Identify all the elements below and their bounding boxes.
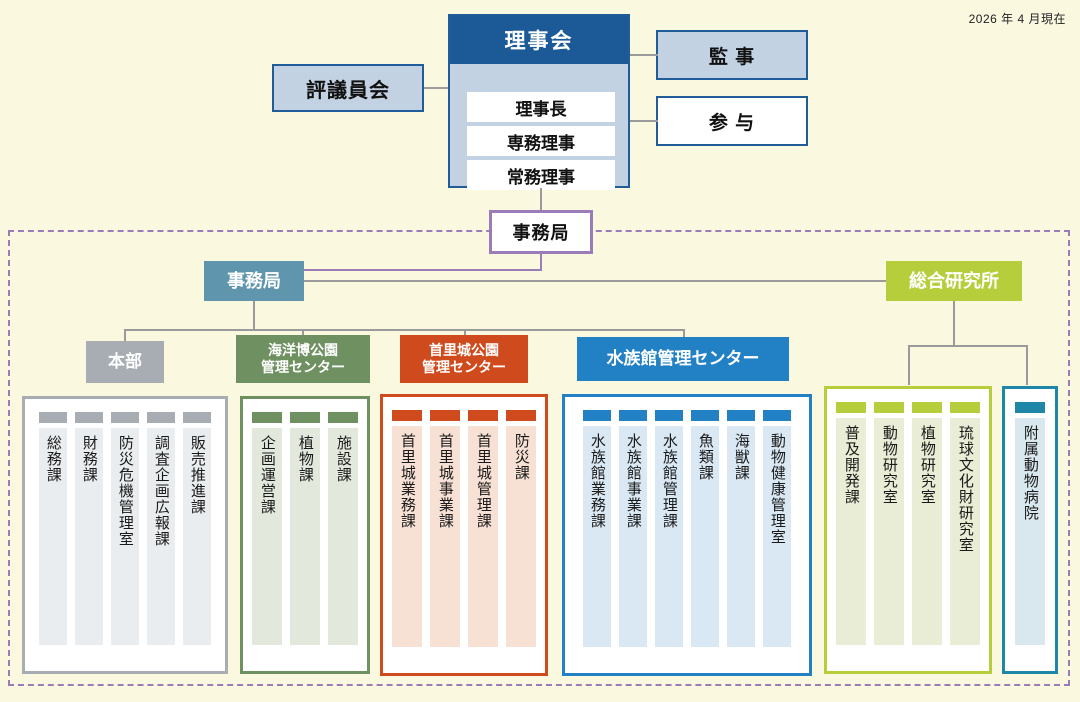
section-column[interactable]: 水族館事業課 xyxy=(619,410,647,647)
section-group-hospital: 附属動物病院 xyxy=(1002,386,1058,674)
section-body: 企画運営課 xyxy=(252,428,282,645)
date-stamp: 2026 年 4 月現在 xyxy=(969,10,1066,27)
division-header-honbu[interactable]: 本部 xyxy=(86,341,164,383)
section-group-honbu: 総務課財務課防災危機管理室調査企画広報課販売推進課 xyxy=(22,396,228,674)
section-color-bar xyxy=(328,412,358,423)
section-color-bar xyxy=(147,412,175,423)
section-column[interactable]: 附属動物病院 xyxy=(1015,402,1045,645)
section-column[interactable]: 首里城管理課 xyxy=(468,410,498,647)
section-column[interactable]: 施設課 xyxy=(328,412,358,645)
connector-research-group1 xyxy=(908,345,910,385)
section-body: 琉球文化財研究室 xyxy=(950,418,980,645)
section-column[interactable]: 防災課 xyxy=(506,410,536,647)
division-label: 本部 xyxy=(108,351,142,372)
section-body: 水族館事業課 xyxy=(619,426,647,647)
board-title: 理事会 xyxy=(450,16,628,64)
section-label: 普及開発課 xyxy=(843,425,859,645)
section-color-bar xyxy=(506,410,536,421)
section-body: 首里城管理課 xyxy=(468,426,498,647)
section-body: 海獣課 xyxy=(727,426,755,647)
board-member-row: 理事長 xyxy=(467,92,615,122)
section-column[interactable]: 水族館管理課 xyxy=(655,410,683,647)
secretariat-division-box[interactable]: 事務局 xyxy=(204,261,304,301)
advisor-box[interactable]: 参 与 xyxy=(656,96,808,146)
section-label: 調査企画広報課 xyxy=(153,435,169,645)
section-column[interactable]: 財務課 xyxy=(75,412,103,645)
section-column[interactable]: 動物健康管理室 xyxy=(763,410,791,647)
section-body: 動物研究室 xyxy=(874,418,904,645)
section-label: 動物研究室 xyxy=(881,425,897,645)
division-header-kaiyohaku[interactable]: 海洋博公園 管理センター xyxy=(236,335,370,383)
section-columns: 普及開発課動物研究室植物研究室琉球文化財研究室 xyxy=(827,389,989,671)
section-column[interactable]: 琉球文化財研究室 xyxy=(950,402,980,645)
section-label: 動物健康管理室 xyxy=(769,433,785,647)
org-chart-canvas: 2026 年 4 月現在 評議員会 理事会 理事長 専務理事 常務理事 監 事 … xyxy=(0,0,1080,702)
section-body: 施設課 xyxy=(328,428,358,645)
section-color-bar xyxy=(912,402,942,413)
section-columns: 首里城業務課首里城事業課首里城管理課防災課 xyxy=(383,397,545,673)
connector-auditor xyxy=(630,54,658,56)
division-label: 水族館管理センター xyxy=(607,348,760,369)
section-body: 植物研究室 xyxy=(912,418,942,645)
section-body: 水族館管理課 xyxy=(655,426,683,647)
section-color-bar xyxy=(111,412,139,423)
section-label: 総務課 xyxy=(45,435,61,645)
section-label: 首里城管理課 xyxy=(475,433,491,647)
section-column[interactable]: 企画運営課 xyxy=(252,412,282,645)
connector-research-down xyxy=(953,301,955,345)
section-label: 水族館事業課 xyxy=(625,433,641,647)
section-color-bar xyxy=(75,412,103,423)
research-institute-box[interactable]: 総合研究所 xyxy=(886,261,1022,301)
section-body: 販売推進課 xyxy=(183,428,211,645)
section-color-bar xyxy=(691,410,719,421)
section-columns: 附属動物病院 xyxy=(1005,389,1055,671)
section-label: 販売推進課 xyxy=(189,435,205,645)
connector-divisions-bus xyxy=(124,329,684,331)
section-color-bar xyxy=(655,410,683,421)
section-color-bar xyxy=(619,410,647,421)
councillors-box[interactable]: 評議員会 xyxy=(272,64,424,112)
section-color-bar xyxy=(874,402,904,413)
section-column[interactable]: 水族館業務課 xyxy=(583,410,611,647)
section-label: 防災危機管理室 xyxy=(117,435,133,645)
section-body: 首里城業務課 xyxy=(392,426,422,647)
division-header-shurijo[interactable]: 首里城公園 管理センター xyxy=(400,335,528,383)
section-color-bar xyxy=(183,412,211,423)
section-label: 琉球文化財研究室 xyxy=(957,425,973,645)
section-color-bar xyxy=(290,412,320,423)
section-label: 企画運営課 xyxy=(259,435,275,645)
connector-divisions-down xyxy=(253,301,255,329)
section-label: 首里城業務課 xyxy=(399,433,415,647)
section-color-bar xyxy=(1015,402,1045,413)
division-label-line2: 管理センター xyxy=(261,359,345,377)
section-columns: 水族館業務課水族館事業課水族館管理課魚類課海獣課動物健康管理室 xyxy=(565,397,809,673)
section-column[interactable]: 販売推進課 xyxy=(183,412,211,645)
section-label: 魚類課 xyxy=(697,433,713,647)
connector-board-to-secretariat xyxy=(540,188,542,212)
section-label: 附属動物病院 xyxy=(1022,425,1038,645)
section-color-bar xyxy=(252,412,282,423)
connector-research-group2 xyxy=(1026,345,1028,385)
section-group-research: 普及開発課動物研究室植物研究室琉球文化財研究室 xyxy=(824,386,992,674)
section-color-bar xyxy=(836,402,866,413)
section-body: 総務課 xyxy=(39,428,67,645)
section-color-bar xyxy=(763,410,791,421)
connector-councillors xyxy=(424,87,450,89)
section-group-kaiyohaku: 企画運営課植物課施設課 xyxy=(240,396,370,674)
section-label: 水族館管理課 xyxy=(661,433,677,647)
section-body: 防災課 xyxy=(506,426,536,647)
section-column[interactable]: 動物研究室 xyxy=(874,402,904,645)
section-body: 植物課 xyxy=(290,428,320,645)
section-columns: 企画運営課植物課施設課 xyxy=(243,399,367,671)
section-label: 植物課 xyxy=(297,435,313,645)
division-label-line1: 海洋博公園 xyxy=(268,342,338,360)
section-body: 財務課 xyxy=(75,428,103,645)
section-column[interactable]: 総務課 xyxy=(39,412,67,645)
section-body: 魚類課 xyxy=(691,426,719,647)
section-body: 普及開発課 xyxy=(836,418,866,645)
section-color-bar xyxy=(727,410,755,421)
section-columns: 総務課財務課防災危機管理室調査企画広報課販売推進課 xyxy=(25,399,225,671)
auditor-box[interactable]: 監 事 xyxy=(656,30,808,80)
section-label: 防災課 xyxy=(513,433,529,647)
board-member-row: 専務理事 xyxy=(467,126,615,156)
division-label-line2: 管理センター xyxy=(422,359,506,377)
division-header-suizokukan[interactable]: 水族館管理センター xyxy=(577,337,789,381)
section-color-bar xyxy=(583,410,611,421)
section-body: 附属動物病院 xyxy=(1015,418,1045,645)
section-label: 施設課 xyxy=(335,435,351,645)
section-color-bar xyxy=(468,410,498,421)
section-body: 動物健康管理室 xyxy=(763,426,791,647)
board-of-directors-box[interactable]: 理事会 理事長 専務理事 常務理事 xyxy=(448,14,630,188)
section-color-bar xyxy=(950,402,980,413)
board-member-row: 常務理事 xyxy=(467,160,615,190)
section-body: 防災危機管理室 xyxy=(111,428,139,645)
section-label: 海獣課 xyxy=(733,433,749,647)
section-body: 調査企画広報課 xyxy=(147,428,175,645)
connector-secretariat-down xyxy=(540,254,542,270)
connector-division-honbu xyxy=(124,329,126,341)
section-body: 水族館業務課 xyxy=(583,426,611,647)
section-label: 財務課 xyxy=(81,435,97,645)
section-column[interactable]: 植物課 xyxy=(290,412,320,645)
section-column[interactable]: 首里城業務課 xyxy=(392,410,422,647)
section-column[interactable]: 調査企画広報課 xyxy=(147,412,175,645)
section-color-bar xyxy=(392,410,422,421)
section-color-bar xyxy=(39,412,67,423)
section-color-bar xyxy=(430,410,460,421)
section-label: 植物研究室 xyxy=(919,425,935,645)
section-column[interactable]: 魚類課 xyxy=(691,410,719,647)
secretariat-top-box[interactable]: 事務局 xyxy=(489,210,593,254)
section-column[interactable]: 首里城事業課 xyxy=(430,410,460,647)
connector-secretariat-to-research xyxy=(304,280,886,282)
section-column[interactable]: 植物研究室 xyxy=(912,402,942,645)
section-group-shurijo: 首里城業務課首里城事業課首里城管理課防災課 xyxy=(380,394,548,676)
section-label: 首里城事業課 xyxy=(437,433,453,647)
section-label: 水族館業務課 xyxy=(589,433,605,647)
section-column[interactable]: 海獣課 xyxy=(727,410,755,647)
connector-research-split xyxy=(908,345,1028,347)
section-body: 首里城事業課 xyxy=(430,426,460,647)
division-label-line1: 首里城公園 xyxy=(429,342,499,360)
connector-advisor xyxy=(630,120,658,122)
section-column[interactable]: 防災危機管理室 xyxy=(111,412,139,645)
section-column[interactable]: 普及開発課 xyxy=(836,402,866,645)
section-group-suizokukan: 水族館業務課水族館事業課水族館管理課魚類課海獣課動物健康管理室 xyxy=(562,394,812,676)
